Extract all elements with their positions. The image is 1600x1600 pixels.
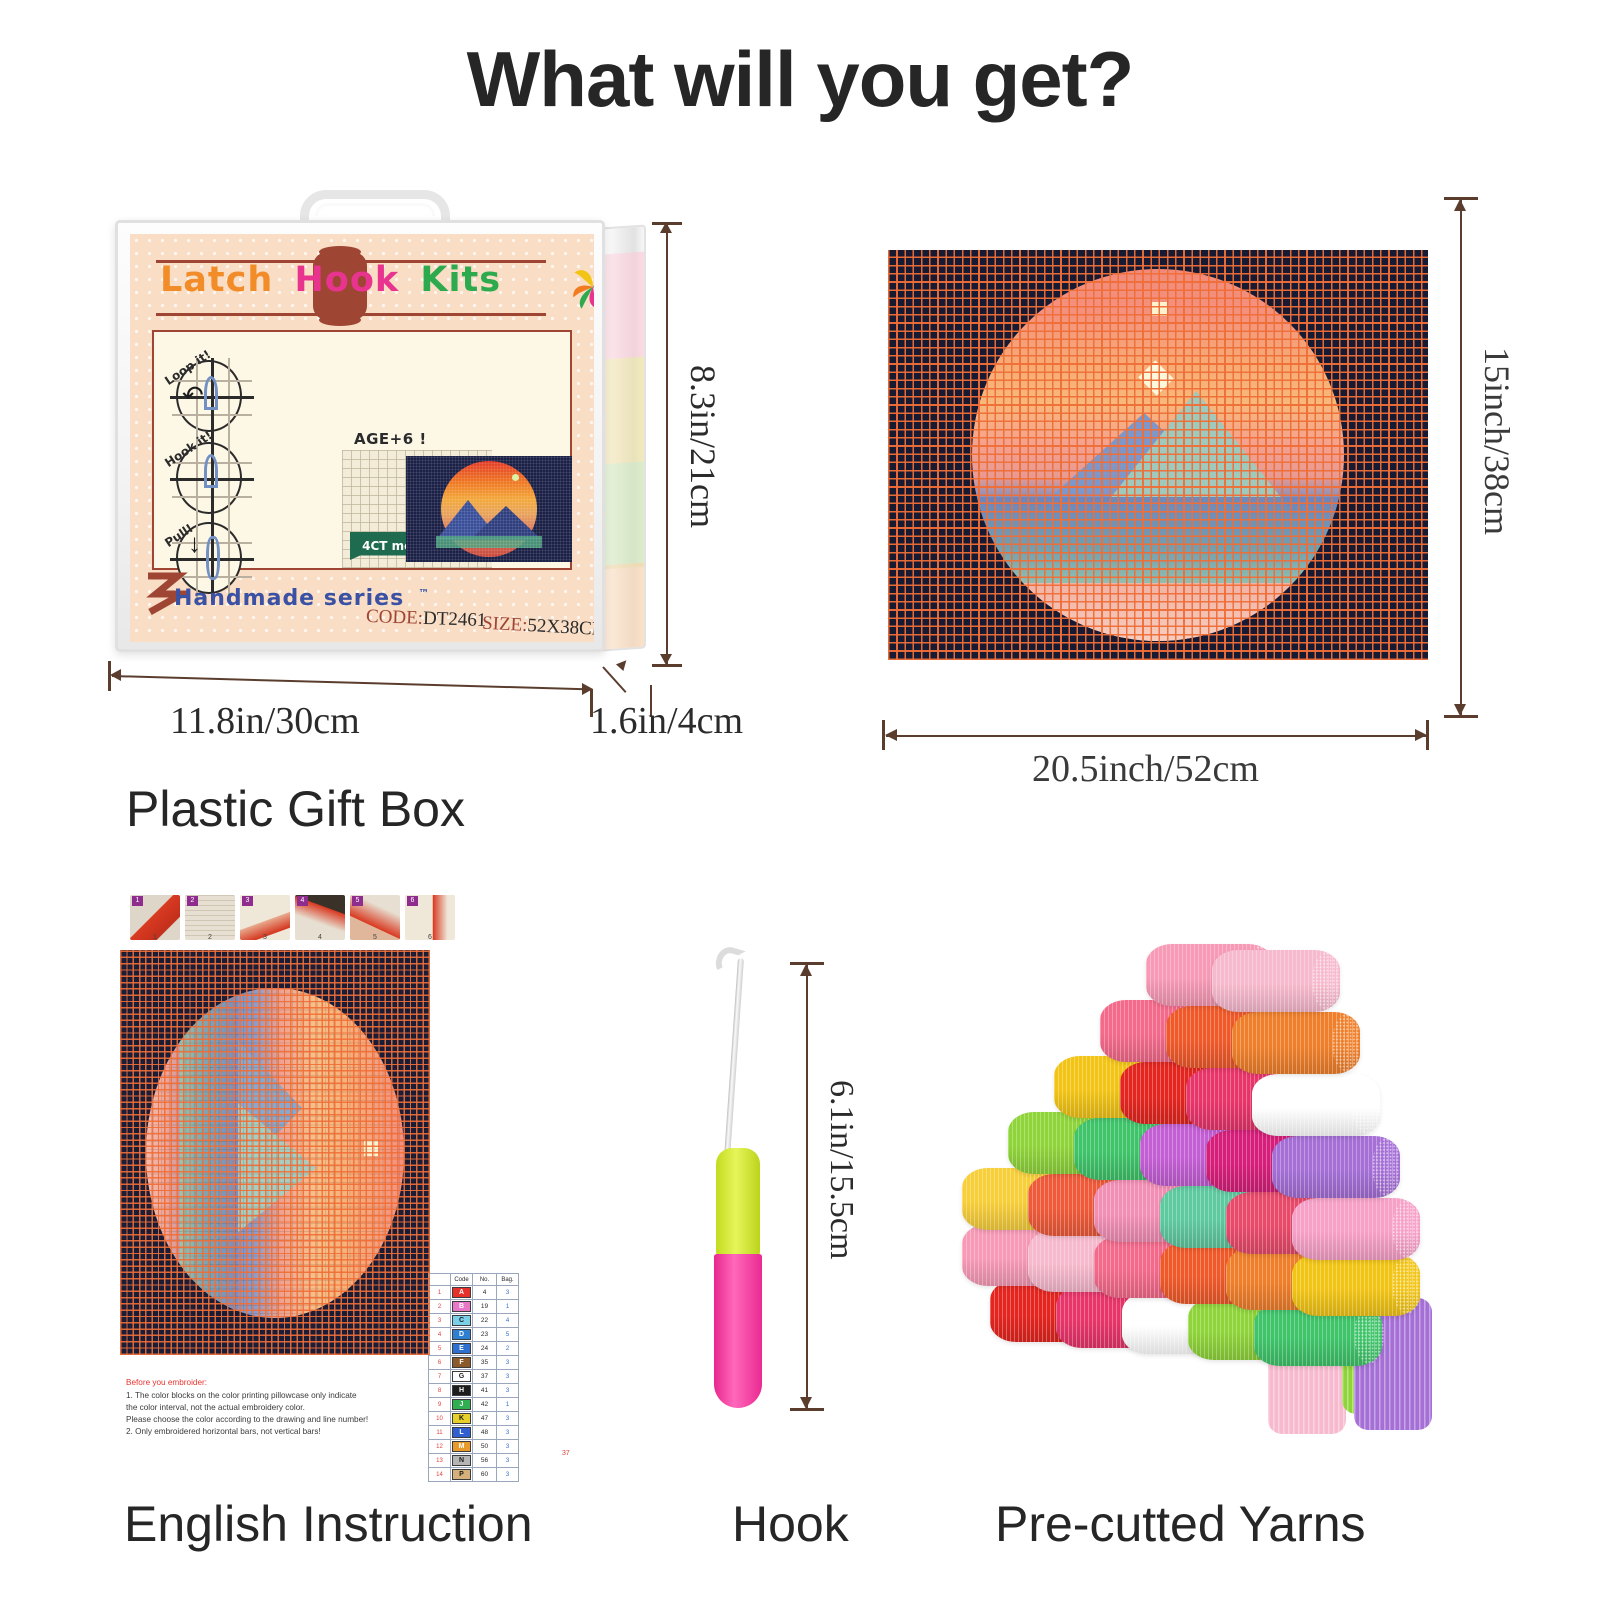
hook-handle-lower [714,1254,762,1408]
canvas-width-label: 20.5inch/52cm [1032,747,1259,791]
th-bag: Bag. [497,1274,519,1286]
row-number: 23 [473,1328,497,1342]
table-row: 10K473 [429,1412,519,1426]
table-header-row: Code No. Bag. [429,1274,519,1286]
caption-gift-box: Plastic Gift Box [126,780,465,838]
row-bag: 2 [497,1342,519,1356]
row-number: 37 [473,1370,497,1384]
row-color-swatch: D [451,1328,473,1342]
row-bag: 3 [497,1426,519,1440]
instruction-thumbnail: 5 5 [350,895,400,940]
row-number: 50 [473,1440,497,1454]
row-number: 19 [473,1300,497,1314]
row-bag: 3 [497,1440,519,1454]
hook-needle [724,958,744,1158]
row-color-swatch: A [451,1286,473,1300]
row-number: 47 [473,1412,497,1426]
row-bag: 3 [497,1454,519,1468]
row-color-swatch: N [451,1454,473,1468]
row-number: 60 [473,1468,497,1482]
row-index: 9 [429,1398,451,1412]
thumb-caption: 3 [240,934,290,940]
instruction-thumbnail: 6 6 [405,895,455,940]
thumb-number: 6 [407,896,418,906]
row-bag: 3 [497,1370,519,1384]
box-brand-title: Latch Hook Kits [160,260,501,300]
table-row: 4D235 [429,1328,519,1342]
yarn-bundle [1292,1254,1420,1316]
row-index: 8 [429,1384,451,1398]
table-row: 11L483 [429,1426,519,1440]
hook-panel: 6.1in/15.5cm Hook [690,940,910,1460]
row-index: 5 [429,1342,451,1356]
row-bag: 4 [497,1314,519,1328]
size-label: SIZE: [482,613,528,636]
brand-word-1: Latch [160,260,273,300]
row-index: 2 [429,1300,451,1314]
th-code: Code [451,1274,473,1286]
row-index: 13 [429,1454,451,1468]
box-depth-label: 1.6in/4cm [590,699,743,743]
box-code-text: CODE:DT2461 [366,606,487,632]
thumb-caption: 2 [185,934,235,940]
yarn-bundle [1252,1074,1380,1136]
note-line-4: 2. Only embroidered horizontal bars, not… [126,1427,321,1436]
row-color-swatch: L [451,1426,473,1440]
table-row: 3C224 [429,1314,519,1328]
row-index: 1 [429,1286,451,1300]
box-instruction-panel: ↶ Loop it! Hook it! [152,330,572,570]
row-number: 4 [473,1286,497,1300]
row-bag: 1 [497,1300,519,1314]
hook-length-label: 6.1in/15.5cm [822,1080,860,1259]
thumb-number: 4 [297,896,308,906]
row-index: 14 [429,1468,451,1482]
code-label: CODE: [366,606,424,629]
instruction-thumbnail: 4 4 [295,895,345,940]
row-bag: 3 [497,1468,519,1482]
finished-rug-photo [406,456,572,562]
gift-box-panel: Latch Hook Kits [90,175,810,795]
yarn-bundle [1272,1136,1400,1198]
row-color-swatch: K [451,1412,473,1426]
box-printed-card: Latch Hook Kits [130,234,594,642]
row-number: 56 [473,1454,497,1468]
row-number: 42 [473,1398,497,1412]
table-row: 9J421 [429,1398,519,1412]
row-bag: 3 [497,1384,519,1398]
row-color-swatch: B [451,1300,473,1314]
pinwheel-icon [562,256,594,318]
brand-word-2: Hook [295,260,400,300]
thumb-caption: 6 [405,934,455,940]
before-you-embroider-note: Before you embroider: 1. The color block… [126,1377,426,1437]
table-row: 14P603 [429,1468,519,1482]
instruction-thumbnail-row: 1 1 2 2 3 3 4 4 5 5 6 6 [130,895,455,940]
row-number: 48 [473,1426,497,1440]
box-plastic-shell: Latch Hook Kits [115,220,605,652]
instruction-thumbnail: 1 1 [130,895,180,940]
printed-mesh-canvas [888,250,1428,660]
chart-mesh-grid [120,950,430,1355]
row-color-swatch: E [451,1342,473,1356]
row-index: 4 [429,1328,451,1342]
row-bag: 1 [497,1398,519,1412]
row-index: 11 [429,1426,451,1440]
row-bag: 3 [497,1412,519,1426]
yarn-bundle [1292,1198,1420,1260]
box-width-label: 11.8in/30cm [170,699,360,743]
row-index: 6 [429,1356,451,1370]
pre-cutted-yarns-panel: Pre-cutted Yarns [950,930,1470,1460]
thumb-number: 5 [352,896,363,906]
note-line-1: 1. The color blocks on the color printin… [126,1391,357,1400]
row-number: 22 [473,1314,497,1328]
table-row: 6F353 [429,1356,519,1370]
color-table-total: 37 [562,1450,628,1457]
row-index: 10 [429,1412,451,1426]
row-bag: 3 [497,1356,519,1370]
yarn-bundle [1212,950,1340,1012]
trademark-symbol: ™ [418,587,430,600]
box-height-label: 8.3in/21cm [682,365,724,528]
row-number: 24 [473,1342,497,1356]
instruction-chart-canvas [120,950,430,1355]
th-index [429,1274,451,1286]
table-row: 8H413 [429,1384,519,1398]
age-text: AGE+6 ! [354,430,427,448]
thumb-number: 3 [242,896,253,906]
canvas-height-label: 15inch/38cm [1476,347,1518,535]
row-color-swatch: F [451,1356,473,1370]
caption-english-instruction: English Instruction [124,1495,533,1553]
th-no: No. [473,1274,497,1286]
row-bag: 5 [497,1328,519,1342]
printed-canvas-panel: 15inch/38cm 20.5inch/52cm [860,175,1560,795]
box-side-depth [602,224,646,651]
row-index: 12 [429,1440,451,1454]
row-number: 41 [473,1384,497,1398]
table-row: 5E242 [429,1342,519,1356]
size-value: 52X38CM [527,615,594,640]
note-heading: Before you embroider: [126,1377,426,1389]
row-bag: 3 [497,1286,519,1300]
caption-yarns: Pre-cutted Yarns [995,1495,1366,1553]
thumb-number: 2 [187,896,198,906]
table-row: 12M503 [429,1440,519,1454]
hook-handle-upper [716,1148,760,1256]
row-color-swatch: P [451,1468,473,1482]
code-value: DT2461 [423,608,487,631]
caption-hook: Hook [732,1495,849,1553]
instruction-thumbnail: 3 3 [240,895,290,940]
row-color-swatch: M [451,1440,473,1454]
english-instruction-panel: 1 1 2 2 3 3 4 4 5 5 6 6 [110,895,630,1475]
gift-box-image: Latch Hook Kits [115,220,660,665]
brand-word-3: Kits [420,260,501,300]
yarn-bundle [1232,1012,1360,1074]
canvas-mesh-grid [888,250,1428,660]
row-color-swatch: J [451,1398,473,1412]
color-code-table: Code No. Bag. 1A432B1913C2244D2355E2426F… [428,1273,519,1482]
row-index: 7 [429,1370,451,1384]
table-row: 1A43 [429,1286,519,1300]
thumb-caption: 4 [295,934,345,940]
note-line-3: Please choose the color according to the… [126,1415,368,1424]
row-color-swatch: G [451,1370,473,1384]
box-size-text: SIZE:52X38CM [482,613,594,642]
row-color-swatch: C [451,1314,473,1328]
row-index: 3 [429,1314,451,1328]
instruction-thumbnail: 2 2 [185,895,235,940]
table-row: 2B191 [429,1300,519,1314]
thumb-caption: 5 [350,934,400,940]
row-number: 35 [473,1356,497,1370]
note-line-2: the color interval, not the actual embro… [126,1403,305,1412]
thumb-caption: 1 [130,934,180,940]
table-row: 7G373 [429,1370,519,1384]
row-color-swatch: H [451,1384,473,1398]
page-title: What will you get? [0,34,1600,125]
table-row: 13N563 [429,1454,519,1468]
thumb-number: 1 [132,896,143,906]
